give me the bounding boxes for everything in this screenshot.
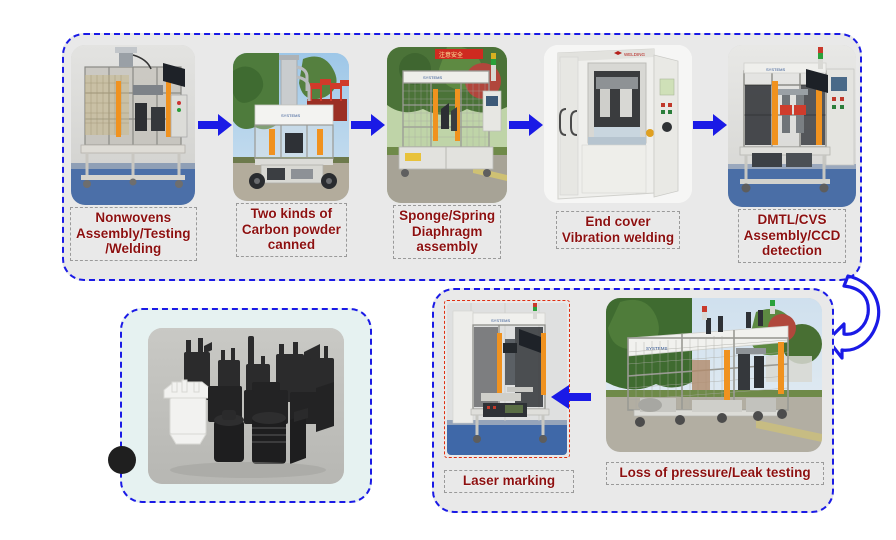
sponge-spring-diaphragm-machine-photo: 注意安全 SYSTEMS bbox=[387, 47, 507, 203]
curved-return-arrow bbox=[826, 268, 890, 360]
stage-caption: Loss of pressure/Leak testing bbox=[606, 462, 824, 485]
flow-arrow-left-icon bbox=[551, 385, 591, 409]
stage-caption: Nonwovens Assembly/Testing /Welding bbox=[70, 207, 197, 261]
flow-arrow-right-icon bbox=[197, 45, 233, 205]
stage-caption: Laser marking bbox=[444, 470, 574, 493]
stage-end-cover[interactable]: WELDING End cover Vibration welding bbox=[544, 45, 692, 249]
svg-text:WELDING: WELDING bbox=[624, 52, 646, 57]
stage-nonwovens[interactable]: Nonwovens Assembly/Testing /Welding bbox=[70, 45, 197, 261]
process-end-dot bbox=[108, 446, 136, 474]
svg-text:注意安全: 注意安全 bbox=[439, 51, 463, 59]
svg-text:SYSTEMS: SYSTEMS bbox=[423, 75, 442, 80]
dmtl-cvs-assembly-ccd-machine-photo: SYSTEMS bbox=[728, 45, 856, 207]
stage-caption: Sponge/Spring Diaphragm assembly bbox=[393, 205, 501, 259]
carbon-powder-canning-machine-photo: SYSTEMS bbox=[233, 53, 349, 201]
svg-text:SYSTEMS: SYSTEMS bbox=[766, 67, 785, 72]
laser-marking-highlight-frame: SYSTEMS bbox=[444, 300, 570, 458]
flow-arrow-right-icon bbox=[508, 45, 544, 205]
svg-text:SYSTEMS: SYSTEMS bbox=[281, 113, 300, 118]
finished-carbon-canister-parts-photo bbox=[148, 328, 344, 484]
stage-carbon-powder[interactable]: SYSTEMS bbox=[233, 45, 351, 257]
stage-caption: DMTL/CVS Assembly/CCD detection bbox=[738, 209, 847, 263]
stage-dmtl-cvs[interactable]: SYSTEMS bbox=[728, 45, 856, 263]
nonwovens-assembly-machine-photo bbox=[71, 45, 195, 205]
leak-testing-line-photo: SYSTEMS bbox=[606, 298, 822, 452]
laser-marking-machine-photo: SYSTEMS bbox=[447, 303, 567, 455]
stage-sponge-spring[interactable]: 注意安全 SYSTEMS bbox=[386, 45, 508, 259]
process-flow-diagram: Nonwovens Assembly/Testing /Welding bbox=[0, 0, 896, 540]
svg-text:SYSTEMS: SYSTEMS bbox=[491, 318, 510, 323]
flow-arrow-right-icon bbox=[350, 45, 386, 205]
stage-leak-testing[interactable]: SYSTEMS bbox=[606, 298, 824, 485]
top-stage-row: Nonwovens Assembly/Testing /Welding bbox=[70, 45, 856, 275]
stage-caption: Two kinds of Carbon powder canned bbox=[236, 203, 347, 257]
stage-caption: End cover Vibration welding bbox=[556, 211, 680, 249]
flow-arrow-right-icon bbox=[692, 45, 728, 205]
end-cover-vibration-welder-photo: WELDING bbox=[544, 45, 692, 203]
